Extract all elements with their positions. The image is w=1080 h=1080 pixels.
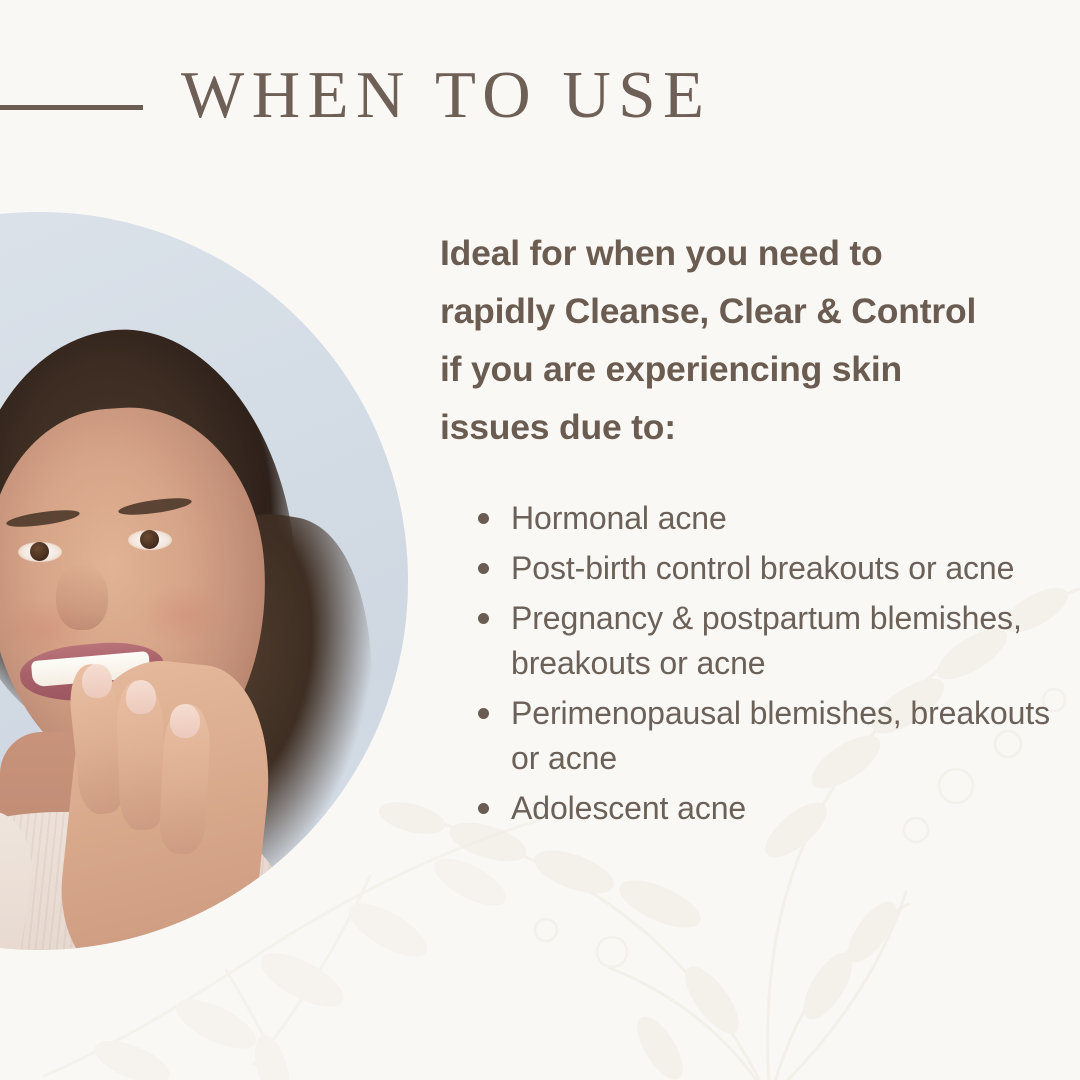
list-item: Post-birth control breakouts or acne (440, 546, 1065, 591)
list-item-label: Adolescent acne (511, 790, 746, 826)
hero-photo: Blemish Ban Gel Targeted Spot Treatment … (0, 212, 408, 950)
fingernail-2 (126, 680, 156, 714)
photo-illustration: Blemish Ban Gel Targeted Spot Treatment … (0, 212, 408, 950)
intro-line-3: if you are experiencing skin (440, 340, 1060, 398)
cheek-right (140, 584, 230, 646)
intro-paragraph: Ideal for when you need to rapidly Clean… (440, 224, 1060, 456)
bullet-dot-icon (478, 513, 489, 524)
list-item-label: Perimenopausal blemishes, breakouts or a… (511, 695, 1050, 776)
intro-line-1: Ideal for when you need to (440, 224, 1060, 282)
list-item: Adolescent acne (440, 786, 1065, 831)
bullet-dot-icon (478, 803, 489, 814)
fingernail-3 (170, 704, 200, 738)
list-item-label: Hormonal acne (511, 500, 727, 536)
bullet-dot-icon (478, 708, 489, 719)
iris-left (30, 542, 49, 561)
bullet-dot-icon (478, 563, 489, 574)
bullet-dot-icon (478, 613, 489, 624)
intro-line-2: rapidly Cleanse, Clear & Control (440, 282, 1060, 340)
list-item: Pregnancy & postpartum blemishes, breako… (440, 596, 1065, 686)
list-item: Hormonal acne (440, 496, 1065, 541)
infographic-canvas: WHEN TO USE (0, 0, 1080, 1080)
list-item: Perimenopausal blemishes, breakouts or a… (440, 691, 1065, 781)
conditions-list: Hormonal acne Post-birth control breakou… (440, 496, 1065, 836)
page-title: WHEN TO USE (181, 62, 711, 129)
fingernail-1 (82, 664, 112, 698)
iris-right (140, 530, 159, 549)
header-rule (0, 105, 143, 110)
list-item-label: Pregnancy & postpartum blemishes, breako… (511, 600, 1022, 681)
intro-line-4: issues due to: (440, 398, 1060, 456)
list-item-label: Post-birth control breakouts or acne (511, 550, 1014, 586)
